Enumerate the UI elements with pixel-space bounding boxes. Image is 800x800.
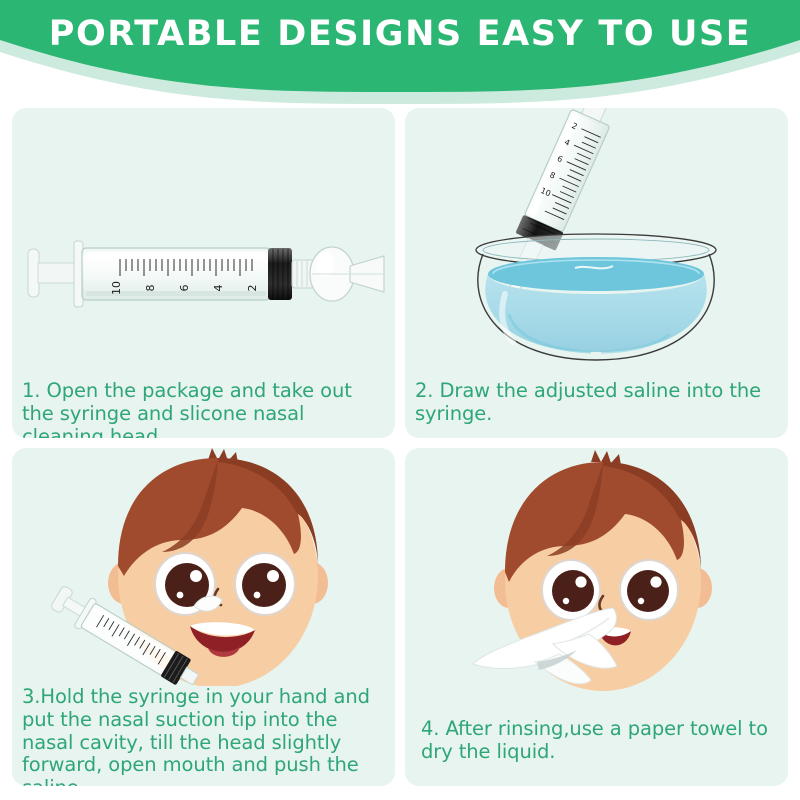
header-banner: PORTABLE DESIGNS EASY TO USE	[0, 0, 800, 104]
syringe-with-nasal-tip-icon: 10 8 6 4 2	[12, 108, 395, 380]
step-panel-3[interactable]: 3.Hold the syringe in your hand and put …	[12, 448, 395, 786]
syringe-graduation-6: 6	[178, 285, 191, 292]
syringe-graduation-10: 10	[110, 281, 123, 295]
step-3-illustration	[12, 448, 395, 686]
syringe-graduation-2: 2	[246, 285, 259, 292]
water-surface	[488, 257, 704, 291]
step-3-caption: 3.Hold the syringe in your hand and put …	[12, 686, 395, 786]
step-1-caption: 1. Open the package and take out the syr…	[12, 380, 395, 438]
syringe-graduation-8: 8	[144, 285, 157, 292]
step-panel-1[interactable]: 10 8 6 4 2	[12, 108, 395, 438]
step-4-illustration	[405, 448, 788, 718]
left-eye	[542, 560, 600, 620]
syringe-graduation-4: 4	[212, 285, 225, 292]
steps-grid: 10 8 6 4 2	[12, 108, 788, 792]
page-title: PORTABLE DESIGNS EASY TO USE	[0, 14, 800, 54]
boy-face-with-syringe-icon	[12, 448, 395, 686]
step-1-illustration: 10 8 6 4 2	[12, 108, 395, 380]
step-4-caption: 4. After rinsing,use a paper towel to dr…	[405, 718, 788, 772]
right-eye	[620, 560, 678, 620]
step-2-caption: 2. Draw the adjusted saline into the syr…	[405, 380, 788, 434]
step-panel-4[interactable]: 4. After rinsing,use a paper towel to dr…	[405, 448, 788, 786]
step-panel-2[interactable]: 2 4 6 8 10	[405, 108, 788, 438]
bowl-of-saline-with-syringe-icon: 2 4 6 8 10	[405, 108, 788, 380]
right-eye	[235, 553, 295, 615]
step-2-illustration: 2 4 6 8 10	[405, 108, 788, 380]
infographic-page: PORTABLE DESIGNS EASY TO USE	[0, 0, 800, 800]
boy-face-with-paper-towel-icon	[405, 448, 788, 718]
